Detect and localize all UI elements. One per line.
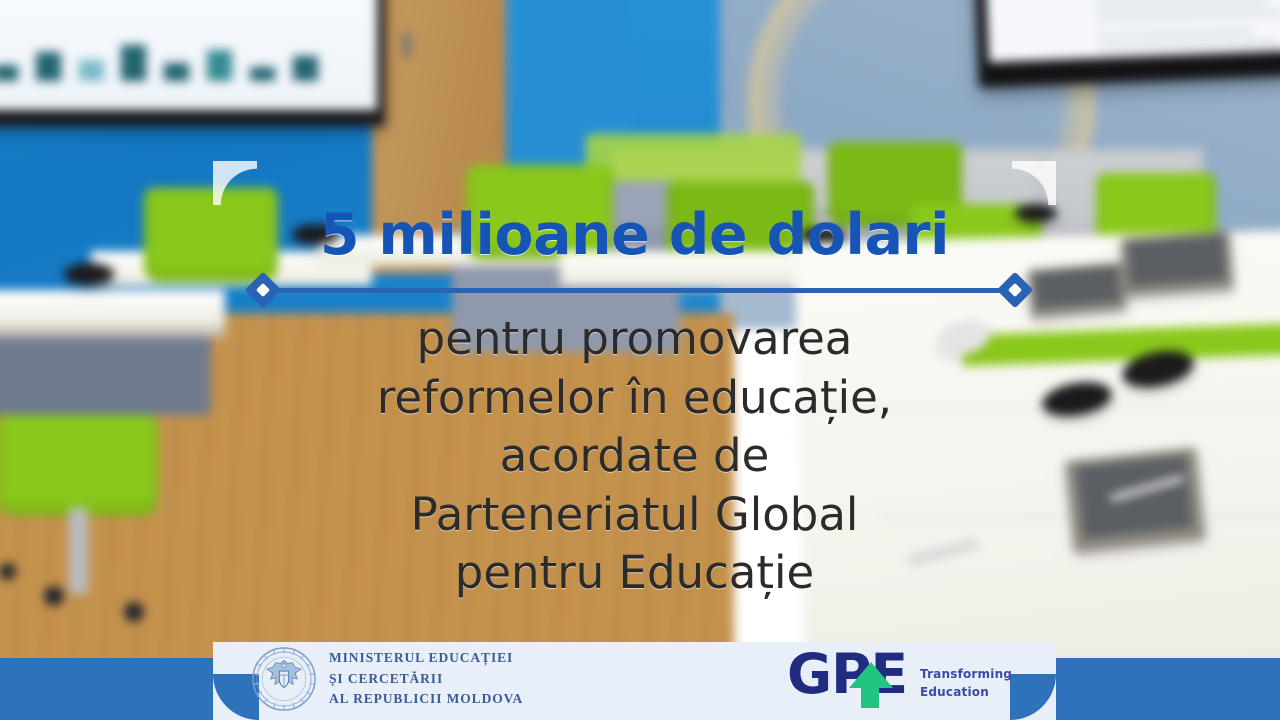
divider-rule <box>276 288 1002 293</box>
ministry-logo: MINISTERUL EDUCAȚIEI ȘI CERCETĂRII AL RE… <box>251 646 523 712</box>
ministry-logo-text: MINISTERUL EDUCAȚIEI ȘI CERCETĂRII AL RE… <box>329 648 523 711</box>
green-up-arrow-icon <box>849 662 893 688</box>
ministry-line-1: MINISTERUL EDUCAȚIEI <box>329 648 523 669</box>
logo-strip: MINISTERUL EDUCAȚIEI ȘI CERCETĂRII AL RE… <box>213 642 1056 720</box>
ministry-line-3: AL REPUBLICII MOLDOVA <box>329 689 523 710</box>
strip-corner-right <box>1010 674 1056 720</box>
moldova-coat-of-arms-seal-icon <box>251 646 317 712</box>
gpe-tagline: Transforming Education <box>920 665 1012 710</box>
decorative-divider <box>250 277 1028 303</box>
gpe-tagline-line-2: Education <box>920 683 1012 702</box>
green-up-arrow-stem-icon <box>861 686 879 708</box>
gpe-wordmark: GPE <box>787 648 911 710</box>
gpe-logo: GPE Transforming Education <box>787 648 1012 710</box>
laptop <box>1064 447 1205 552</box>
body-line: reformelor în educație, <box>253 369 1016 428</box>
body-line: Parteneriatul Global <box>253 486 1016 545</box>
interactive-display-right <box>971 0 1280 88</box>
ministry-line-2: ȘI CERCETĂRII <box>329 669 523 690</box>
body-line: pentru promovarea <box>253 310 1016 369</box>
card-corner-ornament-top-right <box>1012 161 1056 205</box>
diamond-icon-right <box>997 272 1034 309</box>
card-corner-ornament-top-left <box>213 161 257 205</box>
laptop <box>1121 231 1235 297</box>
body-text: pentru promovarea reformelor în educație… <box>253 310 1016 603</box>
poster-canvas: 5 milioane de dolari pentru promovarea r… <box>0 0 1280 720</box>
interactive-display-left <box>0 0 385 126</box>
body-line: pentru Educație <box>253 544 1016 603</box>
body-line: acordate de <box>253 427 1016 486</box>
gpe-tagline-line-1: Transforming <box>920 665 1012 684</box>
page-title: 5 milioane de dolari <box>213 206 1056 266</box>
